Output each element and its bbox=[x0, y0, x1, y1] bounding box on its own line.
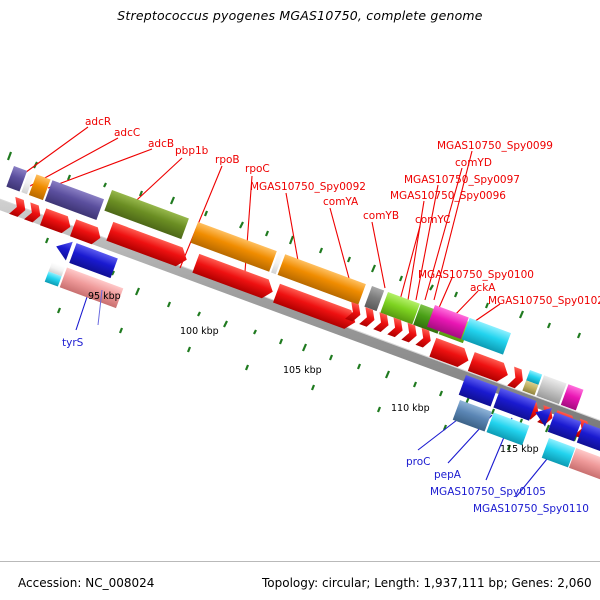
gene-label-spy0105: MGAS10750_Spy0105 bbox=[430, 487, 546, 498]
gene-label-rpoB: rpoB bbox=[215, 155, 240, 166]
gene-label-spy0097: MGAS10750_Spy0097 bbox=[404, 175, 520, 186]
gene-label-pepA: pepA bbox=[434, 470, 461, 481]
gene-label-pbp1b: pbp1b bbox=[175, 146, 208, 157]
gene-label-adcR: adcR bbox=[85, 117, 111, 128]
gene-label-proC: proC bbox=[406, 457, 431, 468]
gene-label-adcC: adcC bbox=[114, 128, 140, 139]
gene-label-spy0099: MGAS10750_Spy0099 bbox=[437, 141, 553, 152]
genome-stats-text: Topology: circular; Length: 1,937,111 bp… bbox=[262, 576, 592, 590]
footer-divider bbox=[0, 561, 600, 562]
gene-label-comYA: comYA bbox=[323, 197, 358, 208]
gene-label-spy0110: MGAS10750_Spy0110 bbox=[473, 504, 589, 515]
accession-text: Accession: NC_008024 bbox=[18, 576, 154, 590]
gene-label-spy0102: MGAS10750_Spy0102 bbox=[488, 296, 600, 307]
genome-map-viewer: Streptococcus pyogenes MGAS10750, comple… bbox=[0, 0, 600, 600]
gene-label-spy0092: MGAS10750_Spy0092 bbox=[250, 182, 366, 193]
gene-label-rpoC: rpoC bbox=[245, 164, 270, 175]
gene-label-comYC: comYC bbox=[415, 215, 451, 226]
gene-label-ackA: ackA bbox=[470, 283, 495, 294]
ruler-tick-95: 95 kbp bbox=[88, 292, 121, 302]
gene-label-tyrS: tyrS bbox=[62, 338, 83, 349]
gene-label-comYB: comYB bbox=[363, 211, 399, 222]
ruler-tick-105: 105 kbp bbox=[283, 366, 322, 376]
gene-label-spy0096: MGAS10750_Spy0096 bbox=[390, 191, 506, 202]
gene-label-adcB: adcB bbox=[148, 139, 174, 150]
ruler-tick-110: 110 kbp bbox=[391, 404, 430, 414]
ruler-tick-115: 115 kbp bbox=[500, 445, 539, 455]
ruler-tick-100: 100 kbp bbox=[180, 327, 219, 337]
gene-label-spy0100: MGAS10750_Spy0100 bbox=[418, 270, 534, 281]
gene-label-comYD: comYD bbox=[455, 158, 492, 169]
